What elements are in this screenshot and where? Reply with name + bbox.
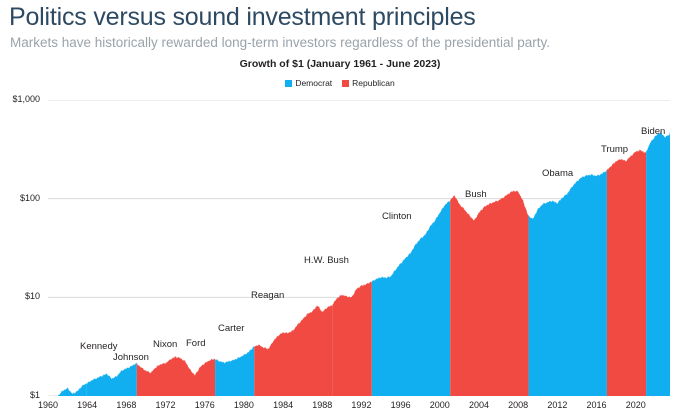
president-label-h-w-bush: H.W. Bush (304, 255, 349, 266)
term-area-reagan (254, 304, 332, 396)
term-area-clinton (372, 200, 450, 396)
chart-legend: DemocratRepublican (0, 78, 680, 88)
x-axis-tick-label: 1972 (146, 400, 186, 410)
x-axis-tick-label: 2000 (420, 400, 460, 410)
president-label-reagan: Reagan (251, 290, 284, 301)
term-area-h-w-bush (333, 281, 372, 396)
y-axis-tick-label: $1,000 (0, 94, 40, 104)
term-area-trump (607, 149, 646, 396)
y-axis-tick-label: $10 (0, 291, 40, 301)
president-label-obama: Obama (542, 168, 573, 179)
x-axis-tick-label: 1968 (106, 400, 146, 410)
legend-label: Democrat (295, 78, 332, 88)
x-axis-tick-label: 1960 (28, 400, 68, 410)
president-label-bush: Bush (465, 189, 487, 200)
president-label-trump: Trump (601, 144, 628, 155)
legend-label: Republican (352, 78, 395, 88)
term-area-carter (215, 346, 254, 396)
x-axis-tick-label: 2008 (498, 400, 538, 410)
legend-swatch-icon (342, 80, 349, 87)
term-area-ford (191, 358, 215, 396)
x-axis-tick-label: 1976 (185, 400, 225, 410)
legend-item-democrat[interactable]: Democrat (285, 78, 332, 88)
legend-item-republican[interactable]: Republican (342, 78, 395, 88)
page-subtitle: Markets have historically rewarded long-… (10, 35, 550, 50)
legend-swatch-icon (285, 80, 292, 87)
president-label-kennedy: Kennedy (80, 341, 118, 352)
president-label-johnson: Johnson (113, 352, 149, 363)
term-area-bush (450, 190, 528, 396)
x-axis-tick-label: 1984 (263, 400, 303, 410)
x-axis-tick-label: 2012 (537, 400, 577, 410)
x-axis-tick-label: 1988 (302, 400, 342, 410)
president-label-biden: Biden (641, 126, 665, 137)
x-axis-tick-label: 1964 (67, 400, 107, 410)
x-axis-tick-label: 1992 (341, 400, 381, 410)
x-axis-tick-label: 2020 (616, 400, 656, 410)
y-axis-tick-label: $1 (0, 390, 40, 400)
president-label-nixon: Nixon (153, 339, 177, 350)
x-axis-tick-label: 2004 (459, 400, 499, 410)
term-area-johnson (86, 362, 137, 396)
president-label-ford: Ford (186, 338, 206, 349)
term-area-obama (529, 170, 607, 396)
term-area-kennedy (58, 384, 86, 396)
term-area-biden (646, 131, 670, 396)
x-axis-tick-label: 1980 (224, 400, 264, 410)
page-title: Politics versus sound investment princip… (9, 3, 476, 32)
x-axis-tick-label: 2016 (577, 400, 617, 410)
chart-title: Growth of $1 (January 1961 - June 2023) (0, 58, 680, 70)
x-axis-tick-label: 1996 (381, 400, 421, 410)
president-label-clinton: Clinton (382, 211, 412, 222)
president-label-carter: Carter (218, 323, 244, 334)
y-axis-tick-label: $100 (0, 193, 40, 203)
